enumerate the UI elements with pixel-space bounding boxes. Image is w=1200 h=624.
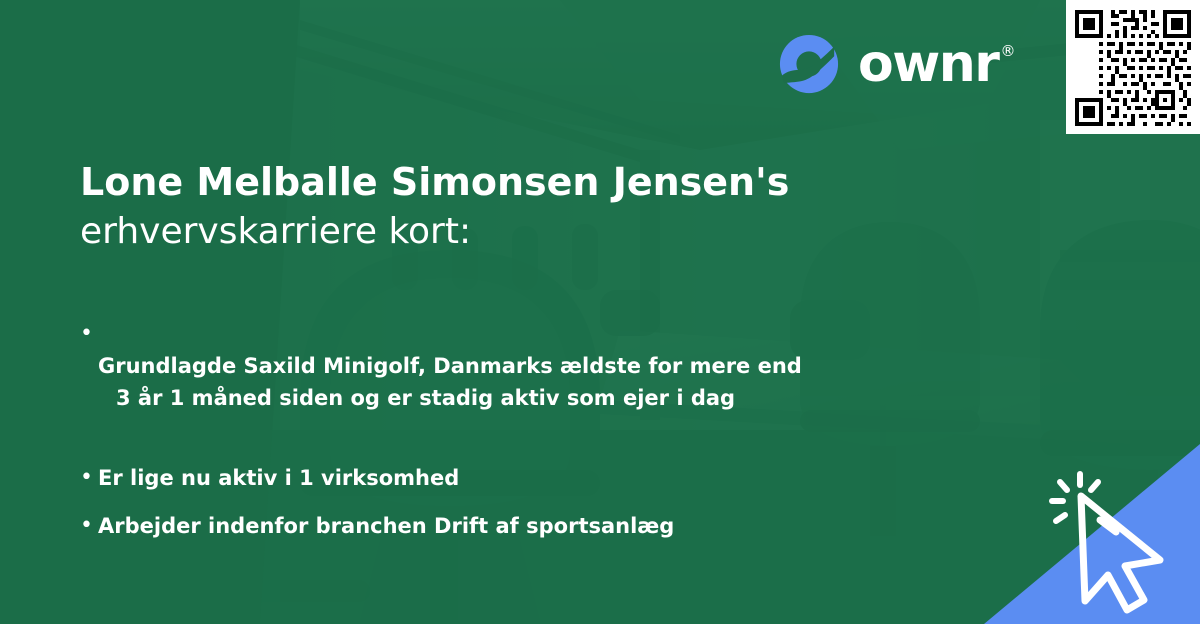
list-item: • Grundlagde Saxild Minigolf, Danmarks æ… <box>80 318 1000 446</box>
list-item-text-line1: Grundlagde Saxild Minigolf, Danmarks æld… <box>98 354 802 378</box>
registered-trademark-symbol: ® <box>1000 42 1015 60</box>
list-item: • Arbejder indenfor branchen Drift af sp… <box>80 510 1000 542</box>
qr-code-icon <box>1075 10 1191 126</box>
ownr-wordmark: ownr ® <box>858 38 1015 90</box>
qr-code-panel[interactable] <box>1066 0 1200 134</box>
business-career-card: ownr ® <box>0 0 1200 624</box>
bullet-icon: • <box>80 462 98 494</box>
ownr-wordmark-text: ownr <box>858 38 998 90</box>
ownr-logo[interactable]: ownr ® <box>778 33 1015 95</box>
ownr-circle-mark <box>778 33 840 95</box>
list-item-text: Grundlagde Saxild Minigolf, Danmarks æld… <box>98 318 802 446</box>
list-item-text: Arbejder indenfor branchen Drift af spor… <box>98 510 674 542</box>
bullet-icon: • <box>80 318 98 350</box>
page-title: Lone Melballe Simonsen Jensen's erhvervs… <box>80 158 1020 256</box>
list-item-text-line2: 3 år 1 måned siden og er stadig aktiv so… <box>98 382 802 414</box>
page-title-subtitle: erhvervskarriere kort: <box>80 208 1020 256</box>
career-facts-list: • Grundlagde Saxild Minigolf, Danmarks æ… <box>80 318 1000 558</box>
bullet-icon: • <box>80 510 98 542</box>
list-item-text: Er lige nu aktiv i 1 virksomhed <box>98 462 459 494</box>
page-title-name: Lone Melballe Simonsen Jensen's <box>80 158 1020 206</box>
list-item: • Er lige nu aktiv i 1 virksomhed <box>80 462 1000 494</box>
